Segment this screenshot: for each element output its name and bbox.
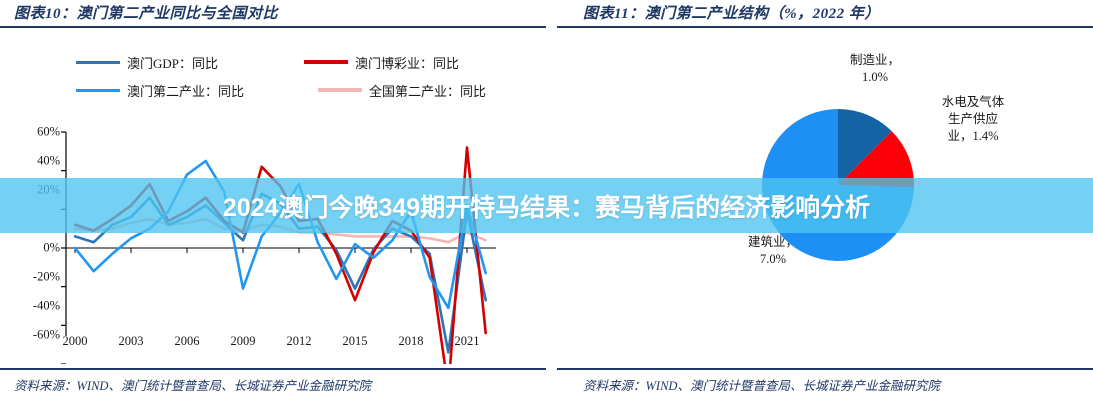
- pie-label-manufacturing: 制造业， 1.0%: [829, 52, 921, 86]
- x-tick-label: 2000: [63, 334, 88, 349]
- y-tick-label: 0%: [14, 241, 60, 256]
- pie-label-utilities: 水电及气体 生产供应 业，1.4%: [925, 94, 1021, 145]
- x-tick-label: 2021: [455, 334, 480, 349]
- figure-page: 图表10：澳门第二产业同比与全国对比 澳门GDP：同比 澳门博彩业：同比: [0, 0, 1093, 400]
- x-tick-label: 2006: [175, 334, 200, 349]
- x-tick-marks: [75, 248, 467, 253]
- y-tick-marks: [61, 132, 66, 364]
- watermark-text: 2024澳门今晚349期开特马结果：赛马背后的经济影响分析: [0, 178, 1093, 233]
- left-figure-title: 图表10：澳门第二产业同比与全国对比: [14, 2, 278, 23]
- pie-label-construction: 建筑业， 7.0%: [725, 234, 821, 268]
- y-tick-label: 40%: [14, 154, 60, 169]
- y-tick-label: -20%: [14, 270, 60, 285]
- y-tick-label: -40%: [14, 299, 60, 314]
- right-title-divider: [557, 26, 1093, 28]
- x-axis-labels: 2000 2003 2006 2009 2012 2015 2018 2021: [0, 334, 546, 358]
- y-tick-label: 60%: [14, 125, 60, 140]
- right-source-divider: [557, 368, 1093, 370]
- x-tick-label: 2009: [231, 334, 256, 349]
- right-figure-title: 图表11：澳门第二产业结构（%，2022 年）: [583, 2, 880, 23]
- left-source-text: 资料来源：WIND、澳门统计暨普查局、长城证券产业金融研究院: [14, 375, 371, 394]
- x-tick-label: 2015: [343, 334, 368, 349]
- x-tick-label: 2003: [119, 334, 144, 349]
- left-source-divider: [0, 368, 546, 370]
- left-title-divider: [0, 26, 546, 28]
- x-tick-label: 2012: [287, 334, 312, 349]
- x-tick-label: 2018: [399, 334, 424, 349]
- right-source-text: 资料来源：WIND、澳门统计暨普查局、长城证券产业金融研究院: [583, 375, 940, 394]
